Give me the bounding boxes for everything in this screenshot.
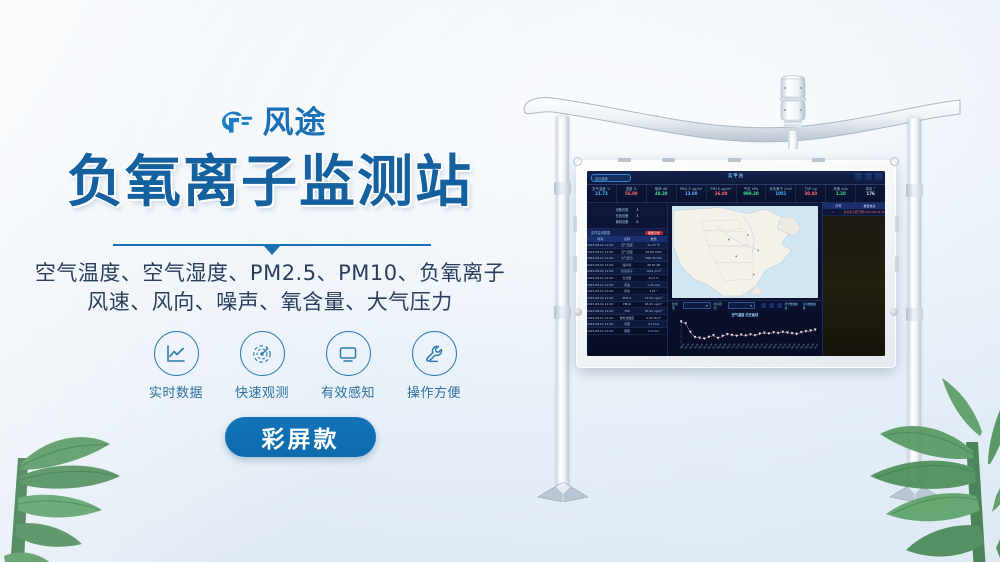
feature-item: 有效感知: [317, 331, 379, 403]
table-cell: 2023-08-01 11:00:00: [587, 282, 614, 288]
subtitle-line-1: 空气温度、空气湿度、PM2.5、PM10、负氧离子: [0, 259, 540, 288]
kpi-card: PM10 ug/m³26.00: [707, 185, 737, 202]
alert-table-body: 1负氧离子低于阈值2023-08-01 10:42 报警: [823, 209, 885, 216]
table-cell: 2023-08-01 11:00:00: [587, 315, 614, 321]
alert-row[interactable]: 1负氧离子低于阈值2023-08-01 10:42 报警: [823, 209, 885, 216]
chart-param-label: 监测项: [672, 302, 680, 310]
table-cell: 大气压力: [614, 255, 641, 261]
feature-item: 实时数据: [145, 331, 207, 403]
kpi-card: PM2.5 ug/m³13.00: [677, 185, 707, 202]
feature-item: 操作方便: [403, 331, 465, 403]
lock-knob-icon: [574, 308, 582, 316]
table-row[interactable]: 2023-08-01 11:00:00风向176 °: [587, 288, 667, 295]
dashboard-left-column: 设备总数3在线设备3离线设备0 实时监测数据 报警记录 时间名称数值 2023-…: [587, 203, 668, 356]
table-cell: 1.20 m/s: [640, 282, 667, 288]
table-cell: 48.30 dB: [640, 262, 667, 268]
mount-lug-icon: [728, 158, 741, 162]
table-cell: 2023-08-01 11:00:00: [587, 269, 614, 275]
table-row[interactable]: 2023-08-01 11:00:00光照3.1 klux: [587, 321, 667, 328]
table-cell: 空气温度: [614, 242, 641, 248]
device-summary: 设备总数3在线设备3离线设备0: [587, 203, 667, 229]
chart-param-select[interactable]: [683, 302, 710, 309]
camera-feed-panel[interactable]: [823, 216, 885, 356]
post-collar-icon: [906, 308, 923, 321]
table-cell: 176 °: [640, 288, 667, 294]
dashboard-center-column: 监测项 时间范围 历史数据曲线 实时数据曲线: [668, 203, 822, 356]
table-cell: 氧含量: [614, 275, 641, 281]
table-cell: 2023-08-01 11:00:00: [587, 302, 614, 308]
chart-export-button-icon[interactable]: [769, 303, 774, 308]
table-cell: 0.30 W/m²: [640, 315, 667, 321]
kpi-card: 气压 hPa998.30: [737, 185, 767, 202]
side-pin-icon: [895, 256, 899, 272]
dashboard-body: 设备总数3在线设备3离线设备0 实时监测数据 报警记录 时间名称数值 2023-…: [587, 203, 885, 356]
alarm-records-button[interactable]: 报警记录: [645, 231, 663, 235]
kpi-value: 21.73: [587, 191, 616, 197]
mount-hook-icon: [890, 157, 899, 166]
feature-icon-circle: [326, 331, 371, 376]
feature-item: 快速观测: [231, 331, 293, 403]
page-title: 负氧离子监测站: [0, 154, 540, 213]
table-row[interactable]: 2023-08-01 11:00:00PM2.513.00 ug/m³: [587, 295, 667, 302]
table-cell: 2023-08-01 11:00:00: [587, 255, 614, 261]
kpi-value: 998.30: [737, 191, 766, 197]
china-map[interactable]: [672, 206, 818, 298]
kpi-value: 30.40: [796, 191, 825, 197]
alert-cell: 负氧离子低于阈值: [844, 209, 865, 215]
data-table-title: 实时监测数据: [591, 230, 610, 235]
dashboard-header: 站点选择 云平台: [587, 171, 885, 185]
data-table-header: 实时监测数据 报警记录: [587, 229, 667, 236]
table-cell: 2023-08-01 11:00:00: [587, 262, 614, 268]
post-collar-icon: [906, 184, 923, 197]
post-collar-icon: [554, 306, 571, 319]
table-cell: 998.30 hPa: [640, 255, 667, 261]
wind-cloud-logo-icon: [214, 106, 254, 140]
base-plate-icon: [532, 482, 594, 502]
table-cell: 21.73 ℃: [640, 242, 667, 248]
curved-canopy-icon: [522, 90, 962, 150]
chart-range-label: 时间范围: [714, 302, 725, 310]
table-cell: PM2.5: [614, 295, 641, 301]
kpi-card: 湿度 %56.80: [617, 185, 647, 202]
table-cell: PM10: [614, 302, 641, 308]
table-cell: 风向: [614, 288, 641, 294]
subtitle-line-2: 风速、风向、噪声、氧含量、大气压力: [0, 288, 540, 317]
table-cell: 26.00 ug/m³: [640, 302, 667, 308]
table-cell: 风速: [614, 282, 641, 288]
map-panel[interactable]: [668, 203, 822, 300]
device-summary-row: 离线设备0: [593, 219, 661, 225]
table-cell: 2023-08-01 11:00:00: [587, 275, 614, 281]
feature-subtitle: 空气温度、空气湿度、PM2.5、PM10、负氧离子 风速、风向、噪声、氧含量、大…: [0, 259, 540, 317]
banana-leaf-icon: [824, 372, 1000, 562]
feature-icon-circle: [412, 331, 457, 376]
dashboard-title: 云平台: [587, 173, 885, 179]
table-cell: 负氧离子: [614, 269, 641, 275]
table-row[interactable]: 2023-08-01 11:00:00风速1.20 m/s: [587, 282, 667, 289]
device-summary-value: 0: [636, 219, 638, 225]
kpi-card: 风向 °176: [856, 185, 885, 202]
model-badge[interactable]: 彩屏款: [225, 417, 376, 457]
kpi-card: 风速 m/s1.20: [826, 185, 856, 202]
table-cell: 光照: [614, 321, 641, 327]
table-cell: 3.1 klux: [640, 321, 667, 327]
banana-leaf-icon: [0, 398, 192, 562]
display-housing: 站点选择 云平台 空气温度 ℃21.73湿度 %56.80噪声 dB48.30P…: [576, 160, 896, 368]
chart-range-select[interactable]: [728, 302, 755, 309]
table-row[interactable]: 2023-08-01 11:00:00空气湿度56.80 %RH: [587, 249, 667, 256]
feature-label: 操作方便: [407, 382, 461, 401]
lock-knob-icon: [890, 308, 898, 316]
dashboard-right-column: 序号报警信息 1负氧离子低于阈值2023-08-01 10:42 报警: [822, 203, 885, 356]
table-row[interactable]: 2023-08-01 11:00:00噪声值48.30 dB: [587, 262, 667, 269]
mount-hook-icon: [573, 157, 582, 166]
side-pin-icon: [573, 256, 577, 272]
alert-cell: 2023-08-01 10:42 报警: [864, 209, 885, 215]
kpi-card: TSP ug30.40: [796, 185, 826, 202]
brand-name: 风途: [263, 108, 327, 139]
side-pin-icon: [573, 216, 577, 232]
table-row[interactable]: 2023-08-01 11:00:00雨量0.0 mm: [587, 328, 667, 335]
table-cell: 56.80 %RH: [640, 249, 667, 255]
device-summary-label: 离线设备: [616, 219, 629, 225]
table-cell: 0.0 mm: [640, 328, 667, 334]
kpi-value: 48.30: [647, 191, 676, 197]
table-cell: 噪声值: [614, 262, 641, 268]
kpi-value: 26.00: [707, 191, 736, 197]
table-cell: 2023-08-01 11:00:00: [587, 249, 614, 255]
kpi-card: 空气温度 ℃21.73: [587, 185, 617, 202]
wrench-icon: [422, 342, 446, 366]
table-cell: 2023-08-01 11:00:00: [587, 308, 614, 314]
monitor-screen-icon: [336, 342, 360, 366]
table-row[interactable]: 2023-08-01 11:00:00空气温度21.73 ℃: [587, 242, 667, 249]
table-cell: 1051 /cm³: [640, 269, 667, 275]
feature-icon-circle: [154, 331, 199, 376]
table-row[interactable]: 2023-08-01 11:00:00PM1026.00 ug/m³: [587, 302, 667, 309]
feature-label: 有效感知: [321, 382, 375, 401]
table-row[interactable]: 2023-08-01 11:00:00大气压力998.30 hPa: [587, 255, 667, 262]
radar-scan-icon: [250, 342, 274, 366]
chart-controls[interactable]: 监测项 时间范围 历史数据曲线 实时数据曲线: [668, 300, 822, 311]
display-bezel: 站点选择 云平台 空气温度 ℃21.73湿度 %56.80噪声 dB48.30P…: [587, 171, 885, 356]
mount-lug-icon: [662, 158, 675, 162]
toolbar-button-icon[interactable]: [855, 173, 862, 180]
table-cell: 30.40 ug/m³: [640, 308, 667, 314]
table-cell: 13.00 ug/m³: [640, 295, 667, 301]
table-cell: 雨量: [614, 328, 641, 334]
divider-triangle-icon: [264, 246, 280, 255]
post-collar-icon: [554, 182, 571, 195]
table-cell: 20.9 %: [640, 275, 667, 281]
dashboard-toolbar[interactable]: [855, 173, 882, 180]
mount-lug-icon: [812, 158, 825, 162]
kpi-strip: 空气温度 ℃21.73湿度 %56.80噪声 dB48.30PM2.5 ug/m…: [587, 185, 885, 203]
dashboard-screen: 站点选择 云平台 空气温度 ℃21.73湿度 %56.80噪声 dB48.30P…: [587, 171, 885, 356]
kpi-value: 13.00: [677, 191, 706, 197]
brand-lockup: 风途: [0, 101, 540, 145]
chart-refresh-button-icon[interactable]: [777, 303, 782, 308]
table-cell: TSP: [614, 308, 641, 314]
side-pin-icon: [895, 216, 899, 232]
data-table-body: 2023-08-01 11:00:00空气温度21.73 ℃2023-08-01…: [587, 242, 667, 356]
kpi-card: 负氧离子 /cm³1051: [766, 185, 796, 202]
feature-icon-row: 实时数据 快速观测: [145, 331, 465, 403]
feature-label: 快速观测: [235, 382, 289, 401]
promo-banner: 风途 负氧离子监测站 空气温度、空气湿度、PM2.5、PM10、负氧离子 风速、…: [0, 0, 1000, 562]
mount-lug-icon: [618, 158, 631, 162]
history-line-chart: 00:0001:0002:0003:0004:0005:0006:0007:00…: [668, 317, 822, 356]
chart-legend-left: 历史数据曲线: [785, 302, 800, 310]
title-divider: [113, 241, 431, 255]
kpi-value: 56.80: [617, 191, 646, 197]
table-cell: 2023-08-01 11:00:00: [587, 288, 614, 294]
alert-cell: 1: [823, 209, 844, 215]
chart-legend-right: 实时数据曲线: [803, 302, 818, 310]
table-cell: 2023-08-01 11:00:00: [587, 321, 614, 327]
table-cell: 空气湿度: [614, 249, 641, 255]
table-row[interactable]: 2023-08-01 11:00:00氧含量20.9 %: [587, 275, 667, 282]
kpi-card: 噪声 dB48.30: [647, 185, 677, 202]
svg-text:05:00: 05:00: [814, 343, 817, 350]
chart-view-button-icon[interactable]: [761, 303, 766, 308]
toolbar-button-icon[interactable]: [875, 173, 882, 180]
table-row[interactable]: 2023-08-01 11:00:00负氧离子1051 /cm³: [587, 269, 667, 276]
table-row[interactable]: 2023-08-01 11:00:00紫外线强度0.30 W/m²: [587, 315, 667, 322]
support-post-icon: [556, 116, 569, 488]
table-cell: 2023-08-01 11:00:00: [587, 328, 614, 334]
toolbar-button-icon[interactable]: [865, 173, 872, 180]
kpi-value: 1051: [766, 191, 795, 197]
table-row[interactable]: 2023-08-01 11:00:00TSP30.40 ug/m³: [587, 308, 667, 315]
feature-icon-circle: [240, 331, 285, 376]
table-cell: 紫外线强度: [614, 315, 641, 321]
table-cell: 2023-08-01 11:00:00: [587, 242, 614, 248]
line-chart-icon: [164, 342, 188, 366]
table-cell: 2023-08-01 11:00:00: [587, 295, 614, 301]
ultrasonic-weather-sensor-icon: [771, 70, 815, 152]
kpi-value: 1.20: [826, 191, 855, 197]
kpi-value: 176: [856, 191, 885, 197]
